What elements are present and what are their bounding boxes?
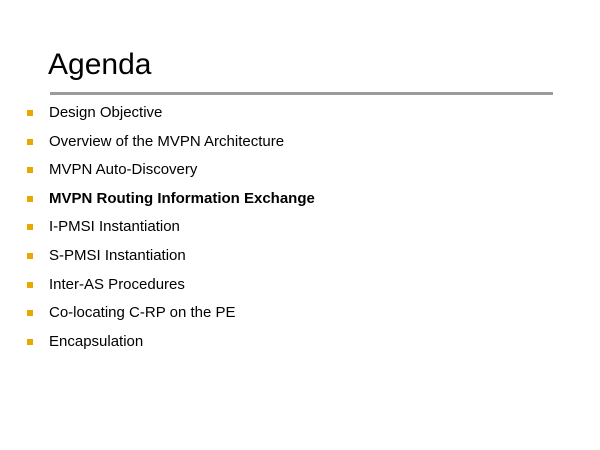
square-bullet-icon [27, 282, 33, 288]
list-item-label: Design Objective [49, 104, 162, 122]
list-item[interactable]: Overview of the MVPN Architecture [27, 133, 567, 162]
list-item-label: Inter-AS Procedures [49, 276, 185, 294]
title-underline-rule [50, 92, 553, 95]
square-bullet-icon [27, 167, 33, 173]
list-item-label: S-PMSI Instantiation [49, 247, 186, 265]
square-bullet-icon [27, 310, 33, 316]
list-item[interactable]: I-PMSI Instantiation [27, 218, 567, 247]
list-item[interactable]: Inter-AS Procedures [27, 276, 567, 305]
square-bullet-icon [27, 139, 33, 145]
list-item[interactable]: MVPN Routing Information Exchange [27, 190, 567, 219]
list-item-label: I-PMSI Instantiation [49, 218, 180, 236]
square-bullet-icon [27, 253, 33, 259]
list-item-label: Encapsulation [49, 333, 143, 351]
list-item[interactable]: Co-locating C-RP on the PE [27, 304, 567, 333]
list-item-label: Overview of the MVPN Architecture [49, 133, 284, 151]
slide-canvas: Agenda Design ObjectiveOverview of the M… [0, 0, 600, 450]
square-bullet-icon [27, 110, 33, 116]
square-bullet-icon [27, 196, 33, 202]
list-item-label: Co-locating C-RP on the PE [49, 304, 235, 322]
list-item[interactable]: S-PMSI Instantiation [27, 247, 567, 276]
list-item-label: MVPN Auto-Discovery [49, 161, 197, 179]
list-item-label: MVPN Routing Information Exchange [49, 190, 315, 208]
list-item[interactable]: Design Objective [27, 104, 567, 133]
square-bullet-icon [27, 224, 33, 230]
title-block: Agenda [48, 48, 553, 82]
list-item[interactable]: Encapsulation [27, 333, 567, 362]
page-title: Agenda [48, 48, 553, 82]
list-item[interactable]: MVPN Auto-Discovery [27, 161, 567, 190]
agenda-list: Design ObjectiveOverview of the MVPN Arc… [27, 104, 567, 361]
square-bullet-icon [27, 339, 33, 345]
